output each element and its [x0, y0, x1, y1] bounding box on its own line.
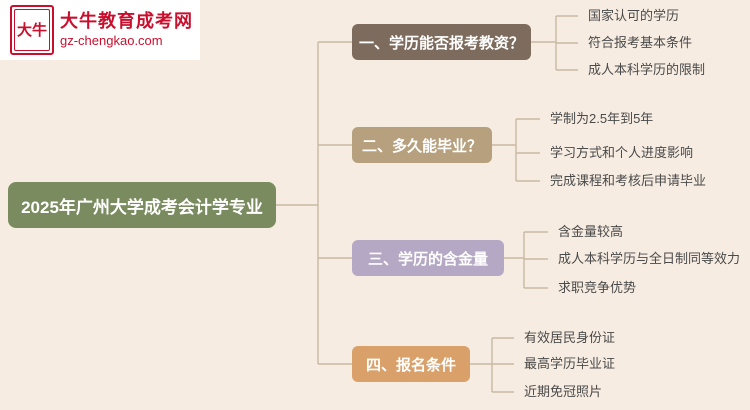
branch-node-3[interactable]: 三、学历的含金量: [352, 240, 504, 276]
leaf-4-1: 有效居民身份证: [524, 330, 615, 346]
branch-label-1: 一、学历能否报考教资？: [359, 32, 524, 53]
leaf-2-1: 学制为2.5年到5年: [550, 111, 653, 127]
leaf-1-3: 成人本科学历的限制: [588, 62, 705, 78]
branch-label-4: 四、报名条件: [366, 354, 456, 375]
mindmap-root-node[interactable]: 2025年广州大学成考会计学专业: [8, 182, 276, 228]
mindmap-root-label: 2025年广州大学成考会计学专业: [21, 193, 263, 218]
leaf-2-3: 完成课程和考核后申请毕业: [550, 173, 706, 189]
leaf-2-2: 学习方式和个人进度影响: [550, 145, 693, 161]
leaf-4-3: 近期免冠照片: [524, 384, 602, 400]
branch-node-4[interactable]: 四、报名条件: [352, 346, 470, 382]
leaf-3-1: 含金量较高: [558, 224, 623, 240]
leaf-4-2: 最高学历毕业证: [524, 356, 615, 372]
leaf-3-2: 成人本科学历与全日制同等效力: [558, 251, 740, 267]
branch-label-2: 二、多久能毕业？: [362, 135, 482, 156]
branch-node-1[interactable]: 一、学历能否报考教资？: [352, 24, 531, 60]
leaf-3-3: 求职竞争优势: [558, 280, 636, 296]
leaf-1-1: 国家认可的学历: [588, 8, 679, 24]
leaf-1-2: 符合报考基本条件: [588, 35, 692, 51]
mindmap-canvas: 大牛 大牛教育成考网 gz-chengkao.com: [0, 0, 750, 410]
branch-node-2[interactable]: 二、多久能毕业？: [352, 127, 492, 163]
branch-label-3: 三、学历的含金量: [368, 248, 488, 269]
